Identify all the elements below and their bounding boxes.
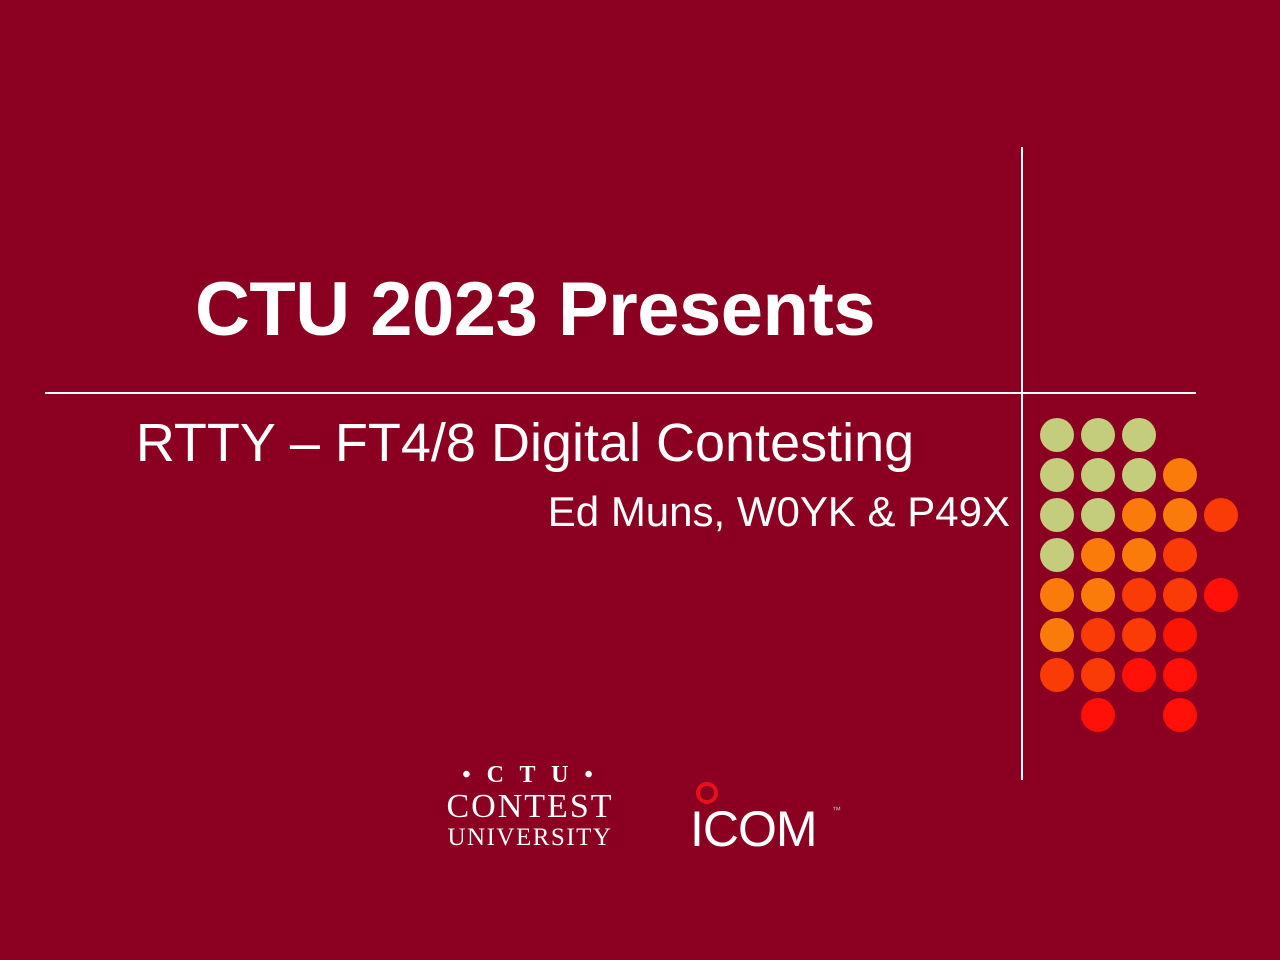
matrix-dot xyxy=(1163,618,1197,652)
matrix-dot xyxy=(1122,658,1156,692)
slide-canvas: CTU 2023 Presents RTTY – FT4/8 Digital C… xyxy=(0,0,1280,960)
matrix-dot xyxy=(1081,618,1115,652)
vertical-divider-rule xyxy=(1021,147,1023,780)
matrix-dot xyxy=(1081,578,1115,612)
ctu-logo-line-university: UNIVERSITY xyxy=(420,825,640,850)
matrix-dot xyxy=(1122,458,1156,492)
matrix-dot xyxy=(1081,538,1115,572)
matrix-dot xyxy=(1163,658,1197,692)
matrix-dot xyxy=(1122,618,1156,652)
matrix-dot xyxy=(1040,418,1074,452)
matrix-dot xyxy=(1122,418,1156,452)
matrix-dot xyxy=(1204,578,1238,612)
matrix-dot xyxy=(1163,458,1197,492)
matrix-dot xyxy=(1040,458,1074,492)
dot-matrix-graphic xyxy=(1040,418,1260,738)
matrix-dot xyxy=(1081,658,1115,692)
matrix-dot xyxy=(1122,498,1156,532)
matrix-dot xyxy=(1040,578,1074,612)
matrix-dot xyxy=(1163,578,1197,612)
matrix-dot xyxy=(1040,538,1074,572)
presenter-byline: Ed Muns, W0YK & P49X xyxy=(40,490,1010,534)
matrix-dot xyxy=(1040,618,1074,652)
page-title: CTU 2023 Presents xyxy=(40,272,1030,348)
ctu-logo-monogram: • C T U • xyxy=(420,762,640,788)
slide-subtitle: RTTY – FT4/8 Digital Contesting xyxy=(40,415,1010,472)
matrix-dot xyxy=(1081,498,1115,532)
matrix-dot xyxy=(1081,418,1115,452)
matrix-dot xyxy=(1163,498,1197,532)
matrix-dot xyxy=(1081,458,1115,492)
matrix-dot xyxy=(1163,538,1197,572)
matrix-dot xyxy=(1081,698,1115,732)
matrix-dot xyxy=(1122,538,1156,572)
horizontal-divider-rule xyxy=(45,392,1196,394)
matrix-dot xyxy=(1122,578,1156,612)
matrix-dot xyxy=(1204,498,1238,532)
icom-trademark-mark: ™ xyxy=(832,806,841,815)
matrix-dot xyxy=(1040,498,1074,532)
icom-logo: ICOM ™ xyxy=(690,782,860,857)
icom-wordmark: ICOM xyxy=(690,804,817,854)
ctu-logo-line-contest: CONTEST xyxy=(420,790,640,824)
ctu-contest-university-logo: • C T U • CONTEST UNIVERSITY xyxy=(420,762,640,850)
matrix-dot xyxy=(1163,698,1197,732)
matrix-dot xyxy=(1040,658,1074,692)
